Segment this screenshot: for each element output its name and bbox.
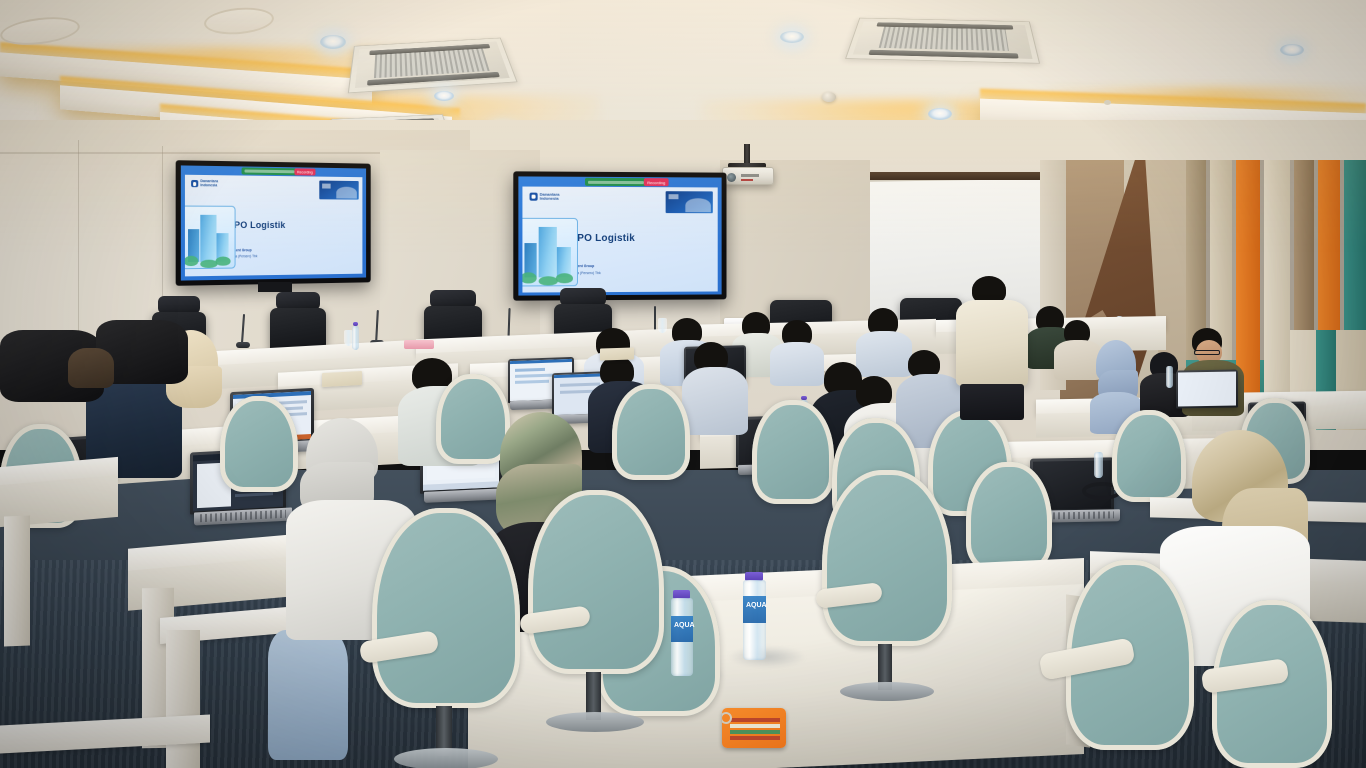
notebook-1 — [322, 371, 362, 387]
downlight-6 — [928, 108, 952, 120]
laptop-10[interactable] — [1176, 369, 1238, 408]
water-bottle-6 — [1166, 366, 1173, 388]
recording-button-right[interactable]: Recording — [644, 178, 669, 186]
drinking-glass-2 — [658, 318, 667, 333]
slide-artwork-left — [185, 206, 236, 270]
display-right: Recording Danantara Indonesia BSDP PPO L… — [513, 171, 726, 300]
ceiling-projector — [722, 167, 774, 185]
downlight-5 — [780, 31, 804, 43]
display-right-screen: Recording Danantara Indonesia BSDP PPO L… — [518, 176, 721, 295]
display-left: Recording Danantara Indonesia BSDP PPO L… — [176, 160, 371, 286]
pink-box-1 — [404, 340, 434, 349]
display-left-screen: Recording Danantara Indonesia BSDP PPO L… — [181, 165, 366, 280]
sprinkler-head — [1104, 100, 1111, 105]
slide-right: Danantara Indonesia BSDP PPO Logistik Ap… — [522, 187, 717, 293]
slide-badge-left — [319, 181, 358, 200]
slide-badge-right — [666, 191, 713, 213]
water-bottle-2-cap — [353, 322, 358, 326]
downlight-9 — [434, 91, 454, 101]
desk-front-left-3-leg — [166, 630, 200, 768]
jacket-draped — [268, 630, 348, 760]
brand-logo-right: Danantara Indonesia — [530, 193, 560, 202]
water-bottle-brand-9: AQUA — [746, 602, 767, 609]
danantara-logo-icon — [191, 180, 198, 187]
eyeglasses-icon — [1194, 350, 1220, 355]
water-bottle-5 — [1094, 452, 1103, 478]
slide-left: Danantara Indonesia BSDP PPO Logistik Ap… — [185, 175, 362, 277]
brand-logo-left: Danantara Indonesia — [191, 180, 218, 188]
bag-3 — [68, 348, 114, 388]
recording-button-left[interactable]: Recording — [294, 168, 315, 175]
pencil-pouch[interactable] — [722, 708, 786, 748]
notebook-2 — [600, 347, 634, 360]
training-room-photo: Recording Danantara Indonesia BSDP PPO L… — [0, 0, 1366, 768]
ac-cassette-3 — [845, 18, 1040, 64]
water-bottle-9-shadow — [728, 646, 806, 668]
recording-toolbar-right[interactable]: Recording — [585, 178, 669, 186]
downlight-1 — [320, 35, 346, 49]
smoke-detector-2 — [822, 92, 836, 102]
pouch-zipper-icon — [722, 712, 732, 724]
brand-line-2-left: Indonesia — [200, 184, 218, 188]
downlight-7 — [1280, 44, 1304, 56]
danantara-logo-icon-right — [530, 193, 538, 201]
water-bottle-2 — [352, 326, 359, 350]
brand-line-2-right: Indonesia — [540, 197, 560, 201]
water-bottle-brand-8: AQUA — [674, 622, 695, 629]
microphone-base-1 — [236, 342, 250, 348]
display-left-mount — [258, 282, 292, 292]
desk-front-left-1-leg — [4, 516, 30, 647]
water-bottle-3-cap — [801, 396, 807, 400]
recording-toolbar-left[interactable]: Recording — [242, 167, 316, 175]
slide-artwork-right — [522, 218, 578, 287]
wall-seam-1 — [78, 140, 79, 360]
